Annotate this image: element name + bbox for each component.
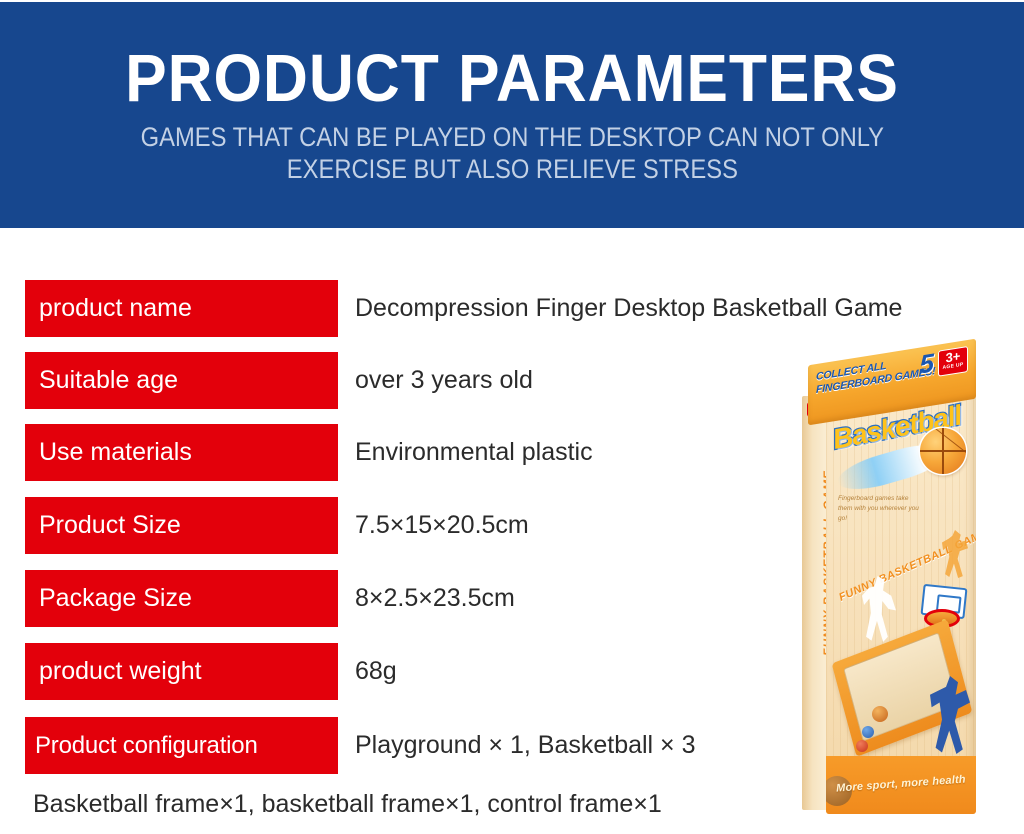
package-collect-count: 5 (920, 349, 934, 377)
page-subtitle-line-2: EXERCISE BUT ALSO RELIEVE STRESS (140, 154, 883, 186)
spec-value-use-materials: Environmental plastic (355, 424, 593, 481)
spec-label-product-weight: product weight (25, 643, 338, 700)
page-subtitle-line-1: GAMES THAT CAN BE PLAYED ON THE DESKTOP … (140, 122, 883, 154)
package-spine-panel: FUNNY BASKETBALL GAME (802, 396, 828, 810)
spec-value-product-weight: 68g (355, 643, 397, 700)
product-parameters-page: PRODUCT PARAMETERS GAMES THAT CAN BE PLA… (0, 0, 1024, 834)
page-subtitle: GAMES THAT CAN BE PLAYED ON THE DESKTOP … (140, 122, 883, 186)
spec-label-product-name: product name (25, 280, 338, 337)
spec-value-suitable-age: over 3 years old (355, 352, 533, 409)
spec-value-package-size: 8×2.5×23.5cm (355, 570, 515, 627)
spec-label-suitable-age: Suitable age (25, 352, 338, 409)
spec-value-product-configuration: Playground × 1, Basketball × 3 (355, 717, 696, 774)
spec-label-package-size: Package Size (25, 570, 338, 627)
basketball-icon (920, 428, 966, 474)
spec-value-product-size: 7.5×15×20.5cm (355, 497, 529, 554)
header-banner: PRODUCT PARAMETERS GAMES THAT CAN BE PLA… (0, 2, 1024, 228)
product-package-image: FUNNY BASKETBALL GAME Basketball Fingerb… (802, 352, 982, 822)
package-blurb-text: Fingerboard games take them with you whe… (838, 494, 924, 523)
mini-ball-blue-icon (862, 726, 874, 738)
page-title: PRODUCT PARAMETERS (125, 45, 899, 112)
basketball-hoop-icon (918, 586, 962, 626)
package-box: FUNNY BASKETBALL GAME Basketball Fingerb… (802, 352, 982, 822)
spec-label-product-size: Product Size (25, 497, 338, 554)
spec-label-product-configuration: Product configuration (25, 717, 338, 774)
package-slogan: More sport, more health (836, 773, 969, 794)
spec-label-use-materials: Use materials (25, 424, 338, 481)
package-front-panel: Basketball Fingerboard games take them w… (826, 390, 976, 814)
table-row: product name Decompression Finger Deskto… (0, 280, 1024, 337)
mini-basketball-icon (872, 706, 888, 722)
package-bottom-band: More sport, more health (826, 756, 976, 814)
spec-value-product-name: Decompression Finger Desktop Basketball … (355, 280, 902, 337)
mini-ball-red-icon (856, 740, 868, 752)
package-collect-text: COLLECT ALL FINGERBOARD GAMES! (816, 352, 936, 397)
age-badge: 3+ AGE UP (938, 346, 968, 377)
spec-configuration-extra-line: Basketball frame×1, basketball frame×1, … (33, 790, 662, 819)
